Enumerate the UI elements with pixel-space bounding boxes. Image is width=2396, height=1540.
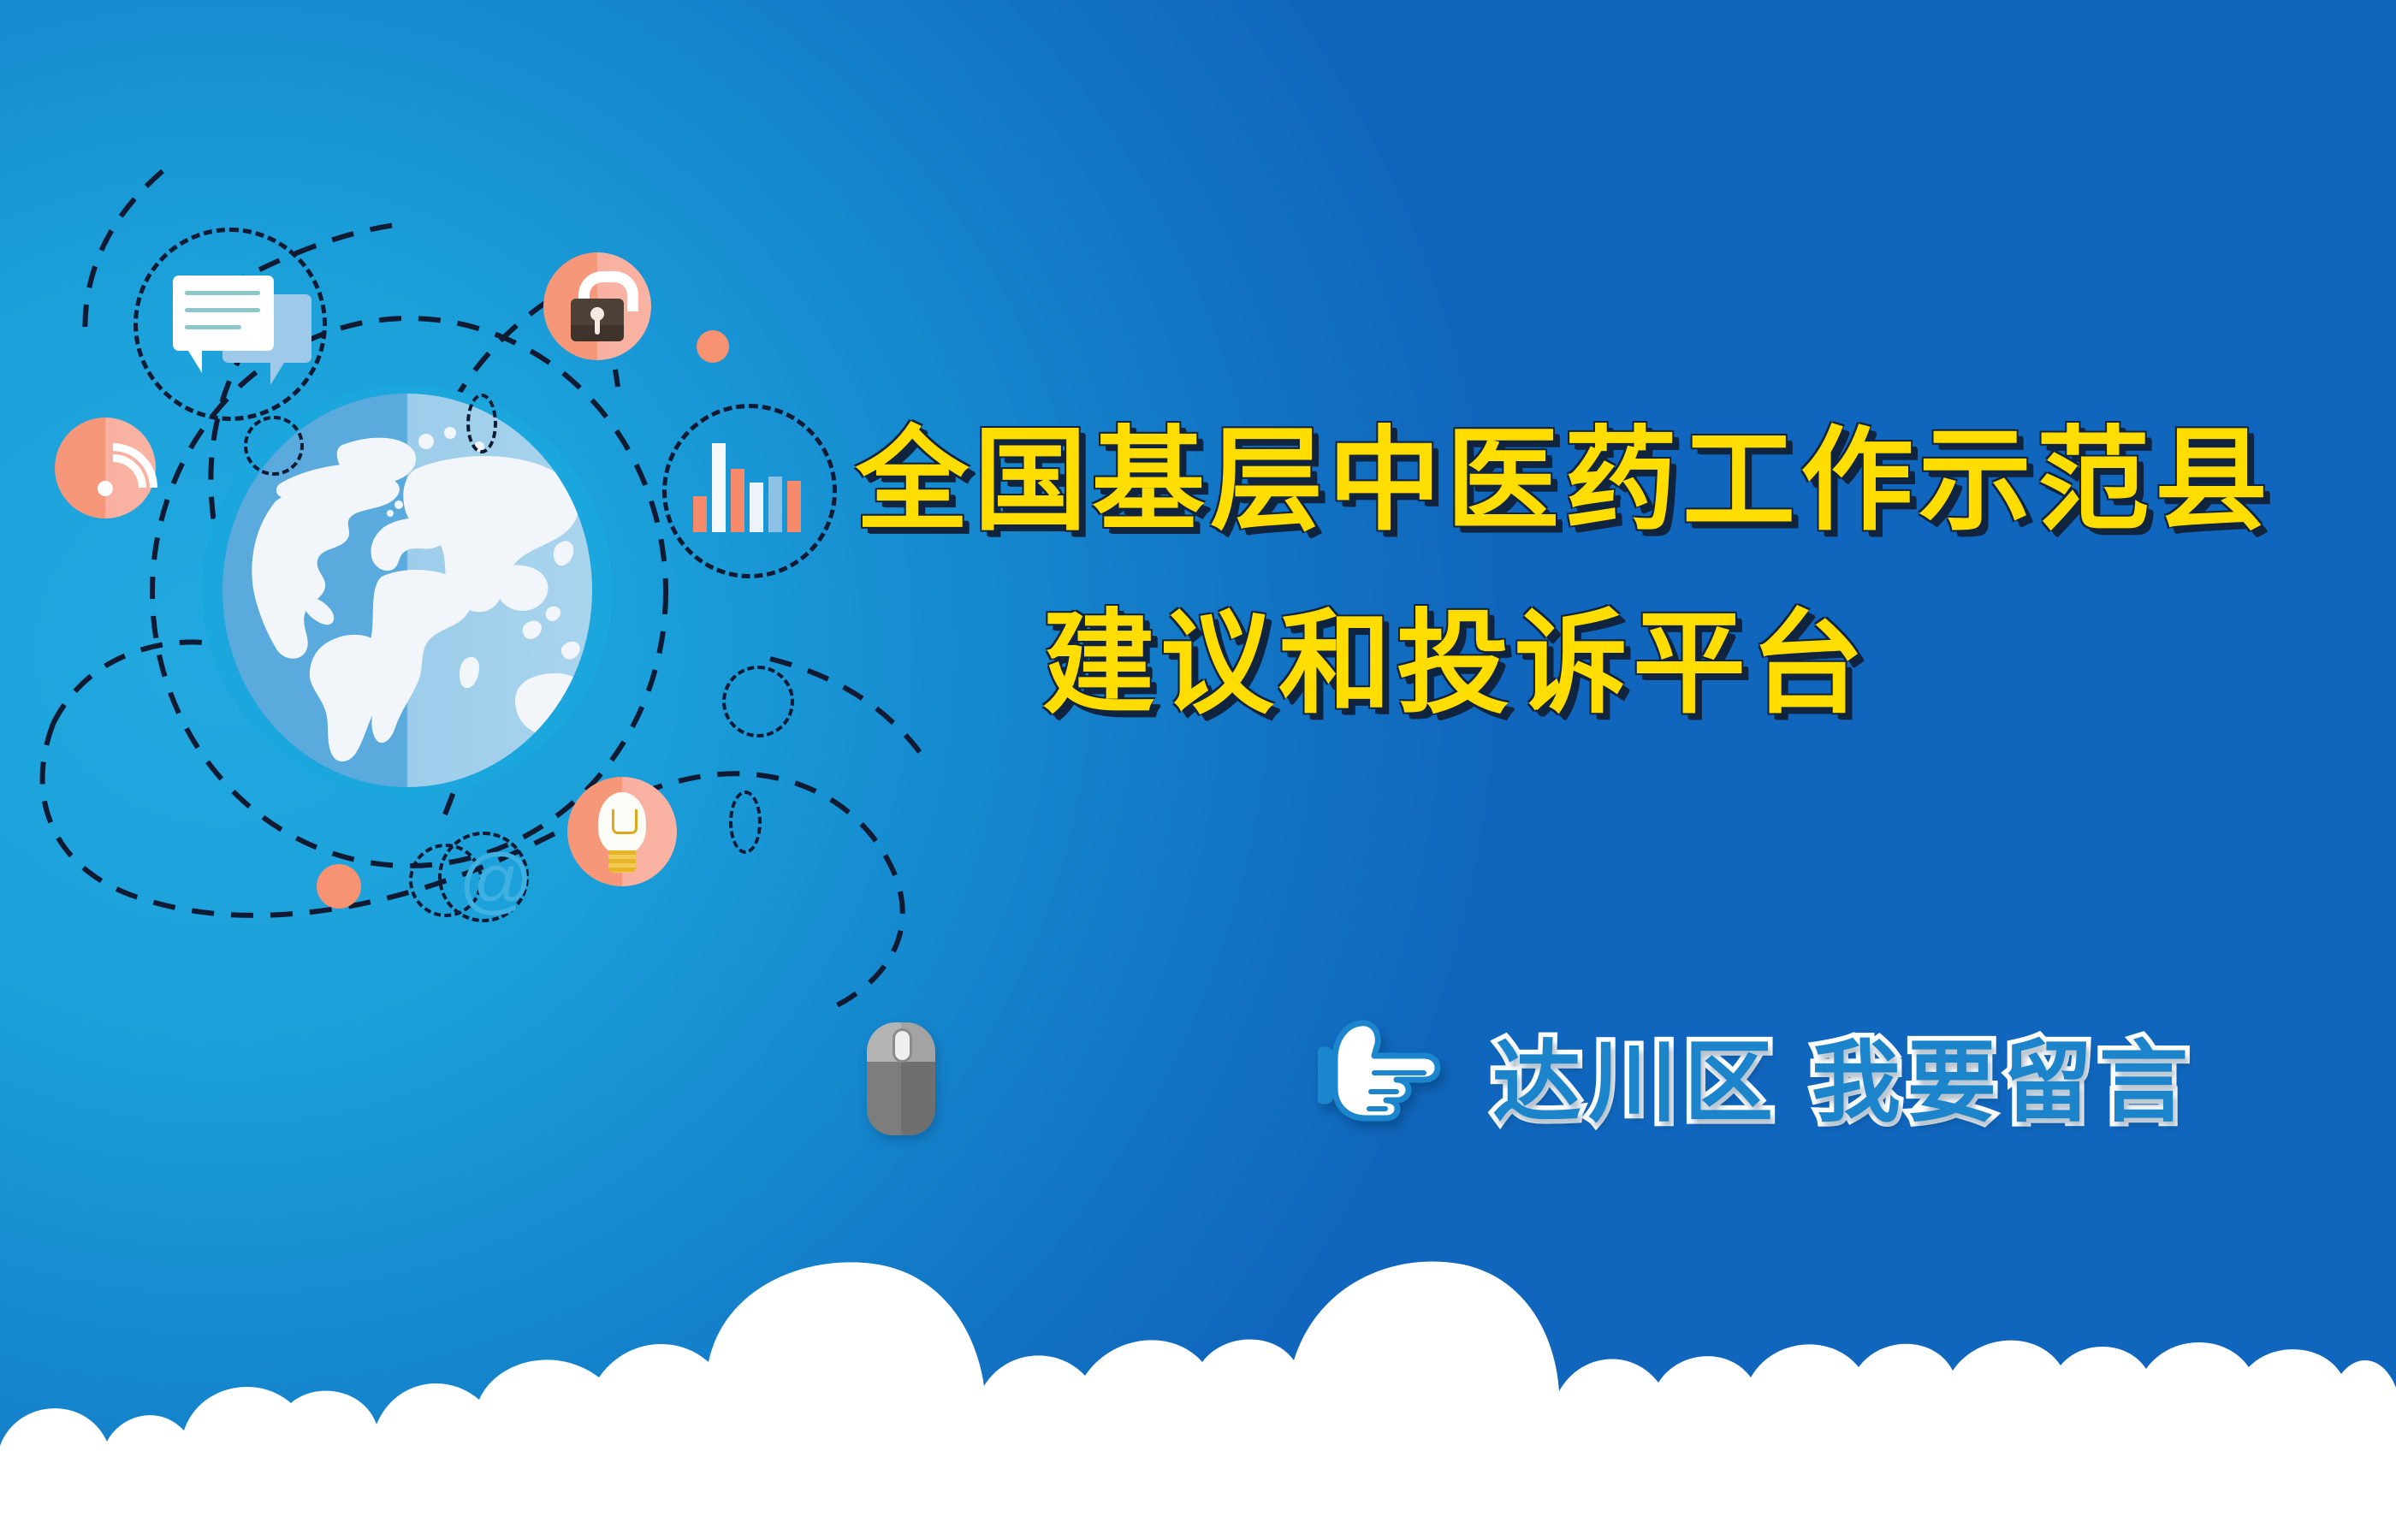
decorative-dashed-ring — [729, 791, 762, 854]
wifi-dot — [98, 481, 113, 496]
at-sign-icon: @ — [459, 844, 533, 917]
bulb-filament — [612, 809, 638, 834]
mouse-bottom-shell — [867, 1062, 935, 1135]
chat-line — [185, 308, 260, 312]
decorative-dashed-ring — [244, 416, 304, 476]
bar-chart-bar — [750, 483, 763, 532]
pointing-hand-right-icon — [1318, 1015, 1446, 1134]
bar-chart-bar — [731, 469, 744, 532]
cloud-decoration — [0, 1232, 2396, 1540]
bar-chart-bar — [693, 496, 707, 532]
chat-bubble-front — [173, 275, 274, 351]
bar-chart-bar — [712, 443, 726, 532]
chat-line — [185, 291, 260, 295]
lightbulb-icon-circle — [567, 777, 677, 886]
banner-canvas: @ 全国基层中医药工作示范县 建议和投诉平台 达川区 我要留言 — [0, 0, 2396, 1540]
mouse-scroll-wheel — [893, 1028, 912, 1063]
bulb-base — [608, 850, 636, 873]
lock-icon-circle — [543, 252, 651, 360]
bar-chart-bar — [787, 481, 801, 532]
accent-dot — [317, 864, 361, 909]
cta-block[interactable]: 达川区 我要留言 — [1318, 1010, 2195, 1139]
bar-chart-icon — [693, 438, 798, 532]
headline-block: 全国基层中医药工作示范县 建议和投诉平台 — [856, 389, 2362, 755]
headline-line-1: 全国基层中医药工作示范县 — [856, 389, 2362, 572]
decorative-dashed-ring — [466, 394, 497, 453]
lock-keyhole-stem — [595, 317, 600, 335]
chat-line — [185, 325, 241, 329]
accent-dot — [697, 330, 729, 363]
chat-bubbles-icon — [173, 275, 318, 378]
wifi-icon-circle — [55, 418, 156, 518]
cta-label[interactable]: 达川区 我要留言 — [1492, 1010, 2195, 1139]
bar-chart-bar — [768, 477, 782, 532]
computer-mouse-icon — [867, 1022, 935, 1142]
headline-line-2: 建议和投诉平台 — [856, 572, 2362, 755]
decorative-dashed-ring — [722, 666, 794, 737]
